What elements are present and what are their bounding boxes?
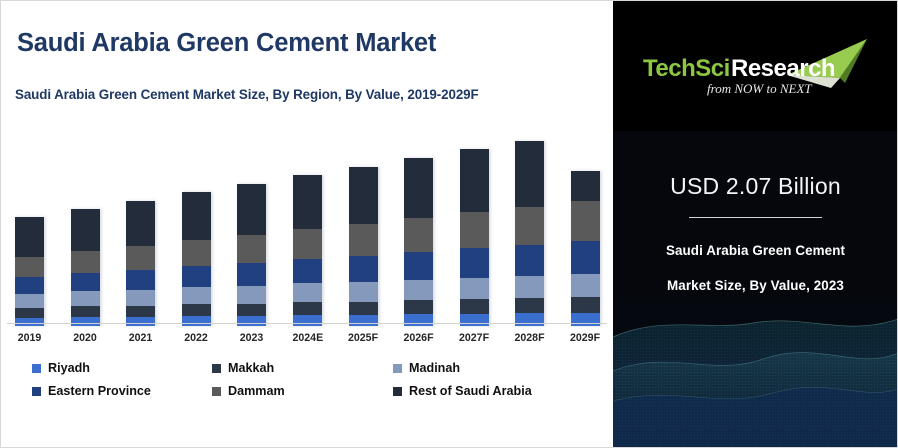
wave-mesh-decoration xyxy=(613,297,898,447)
x-axis-label: 2023 xyxy=(237,332,266,344)
bar-segment xyxy=(515,276,544,299)
x-axis-labels: 201920202021202220232024E2025F2026F2027F… xyxy=(15,332,599,344)
bar-column xyxy=(15,141,44,326)
chart-panel: Saudi Arabia Green Cement Market Saudi A… xyxy=(0,0,613,448)
bar-segment xyxy=(15,217,44,257)
x-axis-label: 2025F xyxy=(348,332,377,344)
bar-segment xyxy=(182,316,211,326)
bar-segment xyxy=(15,294,44,308)
bar-segment xyxy=(126,270,155,291)
infographic-root: Saudi Arabia Green Cement Market Saudi A… xyxy=(0,0,898,448)
bar-stack xyxy=(15,217,44,326)
legend-label: Makkah xyxy=(228,361,274,375)
legend-item-riyadh[interactable]: Riyadh xyxy=(1,361,197,375)
bar-segment xyxy=(460,149,489,212)
bar-segment xyxy=(571,171,600,202)
legend-item-madinah[interactable]: Madinah xyxy=(393,361,593,375)
legend-row: Eastern ProvinceDammamRest of Saudi Arab… xyxy=(1,384,614,398)
bar-segment xyxy=(293,315,322,326)
bar-segment xyxy=(404,252,433,280)
bar-column xyxy=(126,141,155,326)
bar-segment xyxy=(293,229,322,259)
bar-stack xyxy=(293,175,322,326)
bar-column xyxy=(237,141,266,326)
legend-row: RiyadhMakkahMadinah xyxy=(1,361,614,375)
bar-segment xyxy=(571,297,600,313)
bar-segment xyxy=(404,218,433,252)
x-axis-label: 2020 xyxy=(71,332,100,344)
bar-segment xyxy=(571,201,600,241)
legend-item-rest-of-saudi-arabia[interactable]: Rest of Saudi Arabia xyxy=(393,384,593,398)
bar-column xyxy=(571,141,600,326)
bar-segment xyxy=(237,235,266,263)
bar-segment xyxy=(182,192,211,239)
bar-stack xyxy=(349,167,378,326)
value-divider xyxy=(689,217,822,218)
legend-swatch-icon xyxy=(32,364,41,373)
value-caption-line2: Market Size, By Value, 2023 xyxy=(613,278,898,293)
chart-subtitle: Saudi Arabia Green Cement Market Size, B… xyxy=(15,87,479,102)
bar-segment xyxy=(182,266,211,288)
bar-stack xyxy=(182,192,211,326)
bar-stack xyxy=(404,158,433,326)
bar-segment xyxy=(237,184,266,235)
x-axis-label: 2029F xyxy=(570,332,599,344)
stacked-bar-chart xyxy=(1,141,614,326)
bar-segment xyxy=(237,316,266,326)
x-axis-label: 2027F xyxy=(459,332,488,344)
bar-column xyxy=(71,141,100,326)
bar-segment xyxy=(349,224,378,256)
bar-segment xyxy=(293,175,322,229)
legend-swatch-icon xyxy=(212,387,221,396)
bar-segment xyxy=(237,304,266,316)
bar-segment xyxy=(71,273,100,292)
bar-segment xyxy=(404,300,433,314)
legend-label: Rest of Saudi Arabia xyxy=(409,384,532,398)
bar-segment xyxy=(293,283,322,302)
bar-segment xyxy=(182,287,211,304)
bar-column xyxy=(293,141,322,326)
x-axis-label: 2024E xyxy=(293,332,322,344)
bar-segment xyxy=(460,299,489,314)
bar-stack xyxy=(237,184,266,326)
bar-segment xyxy=(404,314,433,326)
bar-segment xyxy=(515,313,544,326)
legend-item-eastern-province[interactable]: Eastern Province xyxy=(1,384,197,398)
summary-panel: TechSci Research from NOW to NEXT USD 2.… xyxy=(613,0,898,448)
bar-segment xyxy=(182,304,211,316)
headline-value-block: USD 2.07 Billion Saudi Arabia Green Ceme… xyxy=(613,173,898,293)
legend-item-dammam[interactable]: Dammam xyxy=(197,384,393,398)
chart-legend: RiyadhMakkahMadinahEastern ProvinceDamma… xyxy=(1,361,614,398)
bar-segment xyxy=(349,302,378,315)
svg-text:Research: Research xyxy=(731,55,835,82)
bar-segment xyxy=(349,315,378,326)
x-axis-label: 2028F xyxy=(515,332,544,344)
legend-swatch-icon xyxy=(212,364,221,373)
bar-segment xyxy=(126,317,155,326)
bar-segment xyxy=(404,158,433,218)
x-axis-label: 2026F xyxy=(404,332,433,344)
bar-segment xyxy=(71,306,100,317)
legend-label: Eastern Province xyxy=(48,384,151,398)
legend-item-makkah[interactable]: Makkah xyxy=(197,361,393,375)
bar-segment xyxy=(15,277,44,295)
bar-stack xyxy=(460,149,489,326)
bar-segment xyxy=(349,167,378,224)
svg-text:TechSci: TechSci xyxy=(643,55,730,82)
bar-segment xyxy=(71,251,100,273)
bar-segment xyxy=(404,280,433,301)
bar-segment xyxy=(460,278,489,300)
bar-segment xyxy=(71,209,100,251)
bar-column xyxy=(182,141,211,326)
bar-segment xyxy=(515,298,544,313)
value-caption-line1: Saudi Arabia Green Cement xyxy=(613,243,898,258)
legend-swatch-icon xyxy=(32,387,41,396)
bar-segment xyxy=(571,274,600,298)
bar-segment xyxy=(293,259,322,284)
market-value: USD 2.07 Billion xyxy=(613,173,898,200)
bar-segment xyxy=(126,306,155,317)
bar-column xyxy=(404,141,433,326)
bar-stack xyxy=(126,201,155,326)
bar-segment xyxy=(126,201,155,246)
bar-segment xyxy=(15,308,44,318)
bar-segment xyxy=(237,286,266,304)
bar-segment xyxy=(237,263,266,287)
bar-segment xyxy=(460,248,489,278)
bar-segment xyxy=(515,245,544,276)
brand-logo: TechSci Research from NOW to NEXT xyxy=(613,1,898,131)
bar-stack xyxy=(71,209,100,326)
legend-swatch-icon xyxy=(393,364,402,373)
bar-segment xyxy=(349,256,378,283)
bar-segment xyxy=(71,317,100,326)
bar-segment xyxy=(571,313,600,326)
legend-label: Riyadh xyxy=(48,361,90,375)
bar-segment xyxy=(15,257,44,277)
bar-column xyxy=(515,141,544,326)
bar-column xyxy=(460,141,489,326)
bar-segment xyxy=(182,240,211,266)
x-axis-label: 2019 xyxy=(15,332,44,344)
bar-stack xyxy=(515,141,544,326)
bar-stack xyxy=(571,171,600,326)
bar-segment xyxy=(293,302,322,315)
x-axis-line xyxy=(7,323,607,324)
chart-plot-area xyxy=(15,141,600,326)
svg-text:from NOW to NEXT: from NOW to NEXT xyxy=(707,81,812,96)
bar-segment xyxy=(515,207,544,245)
legend-label: Dammam xyxy=(228,384,285,398)
bar-segment xyxy=(71,291,100,306)
page-title: Saudi Arabia Green Cement Market xyxy=(17,29,436,58)
bar-segment xyxy=(349,282,378,302)
x-axis-label: 2022 xyxy=(182,332,211,344)
bar-segment xyxy=(460,314,489,326)
x-axis-label: 2021 xyxy=(126,332,155,344)
bar-column xyxy=(349,141,378,326)
bar-segment xyxy=(126,246,155,270)
legend-swatch-icon xyxy=(393,387,402,396)
techsci-research-logo-icon: TechSci Research from NOW to NEXT xyxy=(635,31,877,103)
bar-segment xyxy=(460,212,489,248)
bar-segment xyxy=(571,241,600,274)
legend-label: Madinah xyxy=(409,361,460,375)
bar-segment xyxy=(126,290,155,306)
bar-segment xyxy=(515,141,544,207)
